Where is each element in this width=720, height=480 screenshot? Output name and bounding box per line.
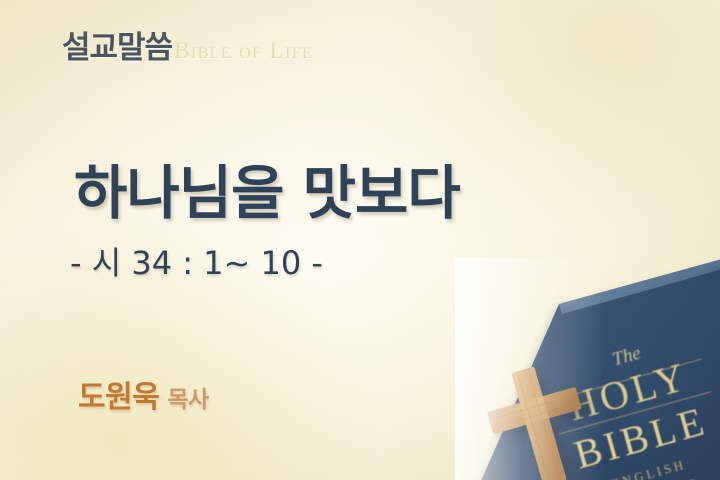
wooden-cross [478,355,608,480]
sermon-title-slide: 설교말씀 Bible of Life 하나님을 맛보다 - 시 34 : 1~ … [0,0,720,480]
holy-bible-photo: The HOLY BIBLE ENGLISH STANDARD VERSION [455,258,720,480]
cross-vertical-beam [511,366,567,480]
brand-logo: 설교말씀 Bible of Life [62,22,313,67]
speaker-role: 목사 [167,380,208,414]
brand-logo-korean: 설교말씀 [62,22,172,67]
version-line-1: ENGLISH [610,456,688,480]
speaker-name: 도원욱 [78,372,159,416]
book-title-bible: BIBLE [569,398,712,478]
page-edge [559,258,720,314]
bible-cover-text: The HOLY BIBLE ENGLISH STANDARD VERSION [541,327,720,480]
speaker-credit: 도원욱 목사 [78,372,209,416]
sermon-title: 하나님을 맛보다 [74,146,460,230]
photo-left-fade [455,258,605,480]
bible-cover [455,258,720,480]
book-title-article: The [610,343,643,371]
brand-logo-english: Bible of Life [174,38,313,64]
cross-horizontal-beam [487,387,582,434]
scripture-reference: - 시 34 : 1~ 10 - [70,238,323,284]
version-line-2: STANDARD [607,474,701,480]
book-shadow [473,258,720,480]
book-title-holy: HOLY [563,353,694,429]
spine-shading [469,304,572,480]
